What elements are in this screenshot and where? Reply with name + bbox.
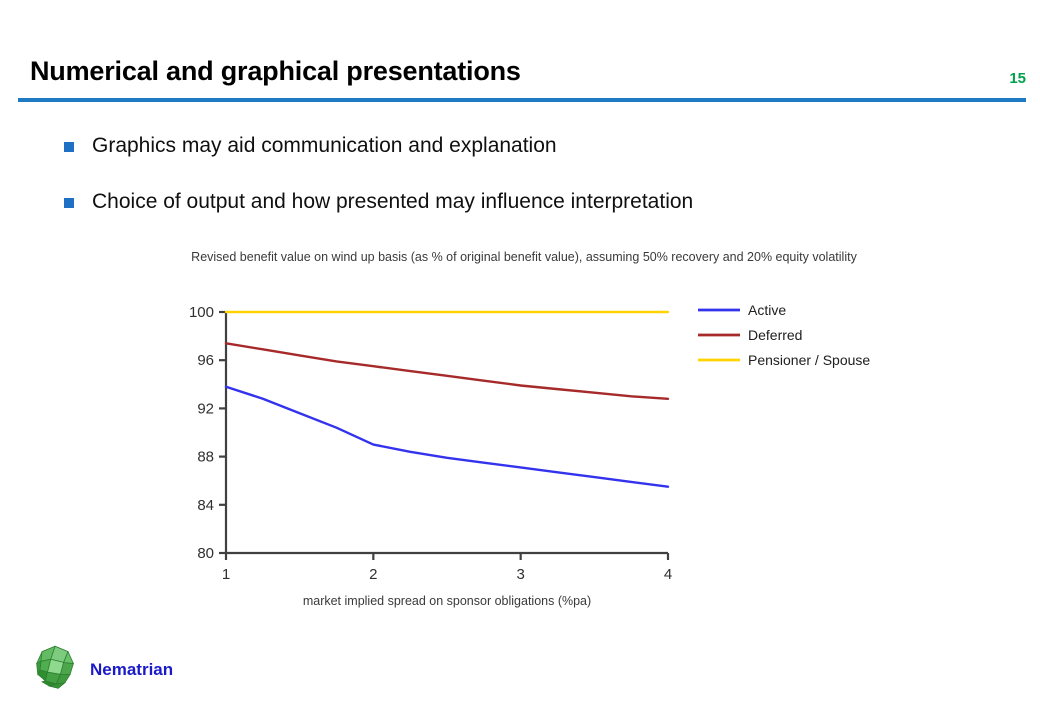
legend-label: Deferred: [748, 327, 802, 343]
x-tick-label: 3: [516, 566, 524, 583]
series-line: [226, 387, 668, 487]
y-tick-label: 92: [197, 400, 214, 417]
chart-legend: ActiveDeferredPensioner / Spouse: [698, 302, 870, 368]
page-number: 15: [1009, 70, 1026, 87]
chart-axes: 80848892961001234: [189, 304, 672, 583]
square-bullet-icon: [64, 198, 74, 208]
x-tick-label: 1: [222, 566, 230, 583]
y-tick-label: 96: [197, 352, 214, 369]
list-item: Graphics may aid communication and expla…: [64, 133, 964, 159]
series-line: [226, 343, 668, 398]
nematrian-polyhedron-logo-icon: [28, 643, 82, 697]
bullet-text: Choice of output and how presented may i…: [92, 189, 693, 215]
y-tick-label: 88: [197, 449, 214, 466]
x-tick-label: 4: [664, 566, 672, 583]
y-tick-label: 100: [189, 304, 214, 321]
x-axis-label: market implied spread on sponsor obligat…: [303, 594, 591, 608]
legend-label: Active: [748, 302, 786, 318]
list-item: Choice of output and how presented may i…: [64, 189, 964, 215]
legend-label: Pensioner / Spouse: [748, 352, 870, 368]
chart-series: [226, 312, 668, 487]
page-title: Numerical and graphical presentations: [30, 56, 521, 87]
y-tick-label: 84: [197, 497, 214, 514]
x-tick-label: 2: [369, 566, 377, 583]
chart-axis-labels: market implied spread on sponsor obligat…: [303, 594, 591, 608]
bullet-list: Graphics may aid communication and expla…: [64, 133, 964, 246]
footer-brand: Nematrian: [90, 660, 173, 680]
y-tick-label: 80: [197, 545, 214, 562]
chart-figure: Revised benefit value on wind up basis (…: [168, 248, 880, 616]
bullet-text: Graphics may aid communication and expla…: [92, 133, 557, 159]
line-chart: 80848892961001234 ActiveDeferredPensione…: [168, 248, 880, 616]
square-bullet-icon: [64, 142, 74, 152]
title-divider: [18, 98, 1026, 102]
